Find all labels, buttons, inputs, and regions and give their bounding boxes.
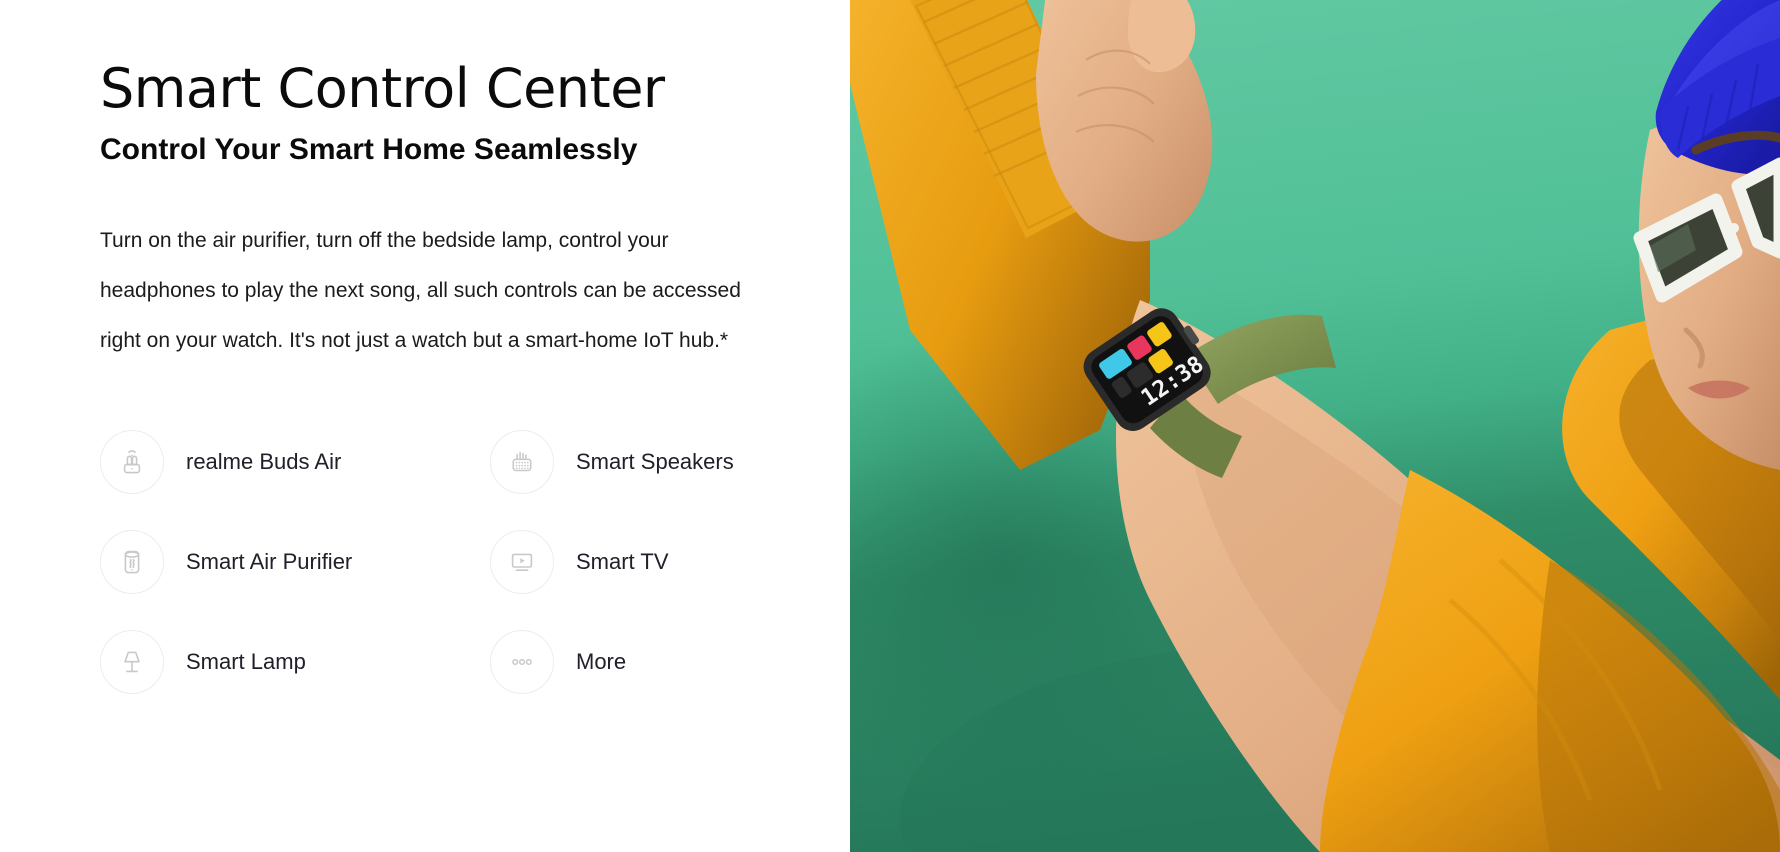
- feature-item-smart-tv[interactable]: Smart TV: [490, 512, 880, 612]
- text-panel: Smart Control Center Control Your Smart …: [0, 0, 850, 852]
- feature-label: Smart Lamp: [186, 649, 306, 675]
- feature-label: Smart Air Purifier: [186, 549, 352, 575]
- smart-speaker-icon: [490, 430, 554, 494]
- photo-illustration: 12:38: [850, 0, 1780, 852]
- earbuds-case-icon: [100, 430, 164, 494]
- page-title: Smart Control Center: [100, 58, 850, 120]
- feature-item-smart-speakers[interactable]: Smart Speakers: [490, 412, 880, 512]
- smart-lamp-icon: [100, 630, 164, 694]
- feature-label: realme Buds Air: [186, 449, 341, 475]
- feature-label: More: [576, 649, 626, 675]
- feature-item-realme-buds-air[interactable]: realme Buds Air: [100, 412, 490, 512]
- smart-tv-icon: [490, 530, 554, 594]
- description-paragraph: Turn on the air purifier, turn off the b…: [100, 216, 780, 366]
- more-ellipsis-icon: [490, 630, 554, 694]
- feature-item-smart-lamp[interactable]: Smart Lamp: [100, 612, 490, 712]
- page-subtitle: Control Your Smart Home Seamlessly: [100, 132, 850, 168]
- feature-label: Smart TV: [576, 549, 669, 575]
- feature-item-smart-air-purifier[interactable]: Smart Air Purifier: [100, 512, 490, 612]
- feature-item-more[interactable]: More: [490, 612, 880, 712]
- feature-list: realme Buds Air: [100, 412, 860, 712]
- lifestyle-photo: 12:38: [850, 0, 1780, 852]
- air-purifier-icon: [100, 530, 164, 594]
- smart-control-center-section: Smart Control Center Control Your Smart …: [0, 0, 1780, 852]
- feature-label: Smart Speakers: [576, 449, 734, 475]
